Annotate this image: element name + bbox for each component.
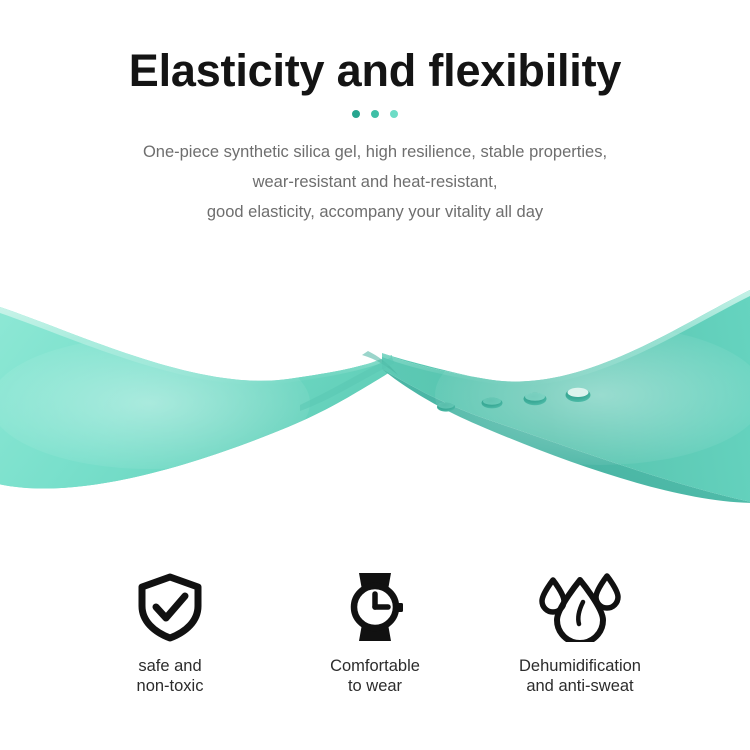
product-feature-page: Elasticity and flexibility One-piece syn… — [0, 0, 750, 750]
feature-row: safe and non-toxic Comfortable to wear — [0, 570, 750, 710]
watch-crown — [397, 603, 403, 612]
strap-hole-3-rim — [525, 393, 545, 401]
feature-comfortable-to-wear: Comfortable to wear — [273, 570, 478, 696]
page-title: Elasticity and flexibility — [0, 0, 750, 96]
check-mark — [156, 596, 185, 618]
header-section: Elasticity and flexibility One-piece syn… — [0, 0, 750, 227]
decorative-dots — [0, 96, 750, 118]
strap-hole-2-rim — [483, 398, 501, 405]
feature-label-safe-non-toxic: safe and non-toxic — [137, 656, 204, 696]
feature-label-comfortable-to-wear: Comfortable to wear — [330, 656, 420, 696]
feature-label-dehumidification: Dehumidification and anti-sweat — [519, 656, 641, 696]
strap-hole-4-rim — [568, 388, 589, 397]
feature-icon-wrapper — [134, 570, 206, 644]
water-droplets-icon — [535, 572, 625, 642]
dot-1-icon — [352, 110, 360, 118]
strap-hole-1-rim — [438, 402, 454, 408]
feature-icon-wrapper — [339, 570, 411, 644]
wristwatch-icon — [339, 571, 411, 643]
droplet-inner-highlight — [578, 602, 583, 624]
feature-safe-non-toxic: safe and non-toxic — [68, 570, 273, 696]
feature-icon-wrapper — [535, 570, 625, 644]
band-left-sheen — [0, 337, 310, 469]
dot-3-icon — [390, 110, 398, 118]
band-right-sheen — [435, 325, 750, 465]
subtitle-block: One-piece synthetic silica gel, high res… — [0, 118, 750, 227]
dot-2-icon — [371, 110, 379, 118]
shield-check-icon — [134, 572, 206, 642]
twisted-band-illustration — [0, 255, 750, 545]
subtitle-line-3: good elasticity, accompany your vitality… — [0, 197, 750, 227]
product-image — [0, 255, 750, 545]
subtitle-line-2: wear-resistant and heat-resistant, — [0, 167, 750, 197]
shield-outline — [142, 577, 198, 638]
subtitle-line-1: One-piece synthetic silica gel, high res… — [0, 137, 750, 167]
feature-dehumidification: Dehumidification and anti-sweat — [478, 570, 683, 696]
